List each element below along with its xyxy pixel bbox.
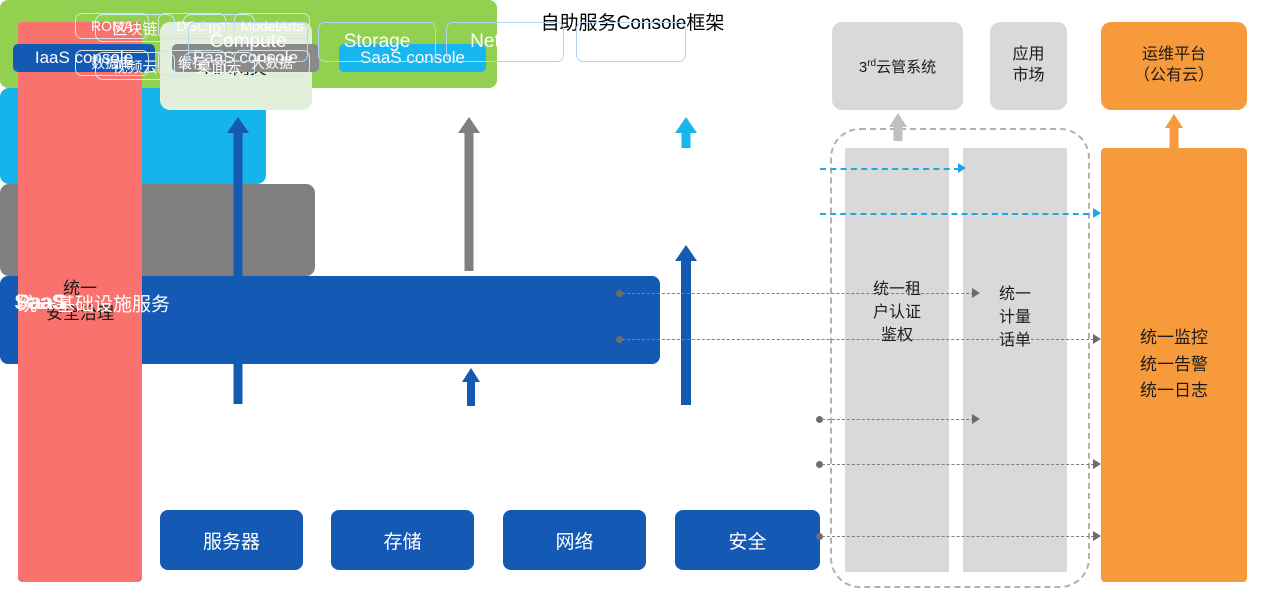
paas-chip-roma[interactable]: ROMA xyxy=(75,13,149,39)
auth-line1: 统一租 xyxy=(845,278,949,301)
third-party-cloud-mgmt-label: 3rd云管系统 xyxy=(859,56,936,77)
infra-chip-cce[interactable]: CCE xyxy=(576,22,686,62)
flow-paas-to-ops xyxy=(622,339,1099,340)
flow-saas-to-ops xyxy=(820,213,1099,215)
flow-arrowhead-paas-auth xyxy=(972,288,980,298)
arrow-saas-to-console xyxy=(673,117,699,148)
resource-box-server: 服务器 xyxy=(160,510,303,570)
resource-box-security: 安全 xyxy=(675,510,820,570)
flow-arrowhead-paas-ops xyxy=(1093,334,1101,344)
third-party-cloud-mgmt-box: 3rd云管系统 xyxy=(832,22,963,110)
app-market-line1: 应用 xyxy=(1012,45,1044,66)
billing-line3: 话单 xyxy=(963,329,1067,352)
shared-service-column-auth xyxy=(845,148,949,572)
billing-line2: 计量 xyxy=(963,306,1067,329)
arrow-paas-to-console xyxy=(456,117,482,271)
ops-platform-line2: （公有云） xyxy=(1134,66,1214,87)
arrow-ops-tall-to-ops-platform xyxy=(1162,114,1186,148)
ops-capability-monitoring: 统一监控 xyxy=(1140,325,1208,351)
auth-line3: 鉴权 xyxy=(845,324,949,347)
infra-chip-network[interactable]: Network xyxy=(446,22,564,62)
ops-capability-alarm: 统一告警 xyxy=(1140,352,1208,378)
paas-chip-database[interactable]: 数据库 xyxy=(75,50,149,76)
app-market-line2: 市场 xyxy=(1012,66,1044,87)
app-market-box: 应用 市场 xyxy=(990,22,1067,110)
arrow-shared-to-third-cloud xyxy=(886,113,910,141)
infra-chip-storage[interactable]: Storage xyxy=(318,22,436,62)
ops-platform-box: 运维平台 （公有云） xyxy=(1101,22,1247,110)
arrow-infra-to-saas xyxy=(673,245,699,405)
resource-box-network: 网络 xyxy=(503,510,646,570)
flow-arrowhead-infra-billing xyxy=(972,414,980,424)
architecture-diagram: 统一 安全治理 API网关 自助服务Console框架 IaaS console… xyxy=(0,0,1265,605)
flow-arrowhead-saas-billing xyxy=(958,163,966,173)
flow-arrowhead-resources-ops xyxy=(1093,531,1101,541)
arrow-infra-to-api-gateway xyxy=(225,117,251,404)
flow-infra-to-ops xyxy=(822,464,1099,465)
flow-arrowhead-saas-ops xyxy=(1093,208,1101,218)
resource-box-storage: 存储 xyxy=(331,510,474,570)
auth-line2: 户认证 xyxy=(845,301,949,324)
infrastructure-label: 统一基础设施服务 xyxy=(18,289,170,316)
flow-saas-to-billing xyxy=(820,168,960,170)
ops-platform-line1: 运维平台 xyxy=(1134,45,1214,66)
shared-service-column-billing xyxy=(963,148,1067,572)
flow-paas-to-auth xyxy=(622,293,974,294)
ops-capabilities-panel: 统一监控 统一告警 统一日志 xyxy=(1101,148,1247,582)
flow-resources-to-ops xyxy=(822,536,1099,537)
ops-capability-logging: 统一日志 xyxy=(1140,378,1208,404)
shared-service-auth-label: 统一租 户认证 鉴权 xyxy=(845,278,949,348)
infra-chip-compute[interactable]: Compute xyxy=(188,22,308,62)
flow-infra-to-billing xyxy=(822,419,974,420)
arrow-infra-to-paas xyxy=(460,368,482,406)
flow-arrowhead-infra-ops xyxy=(1093,459,1101,469)
